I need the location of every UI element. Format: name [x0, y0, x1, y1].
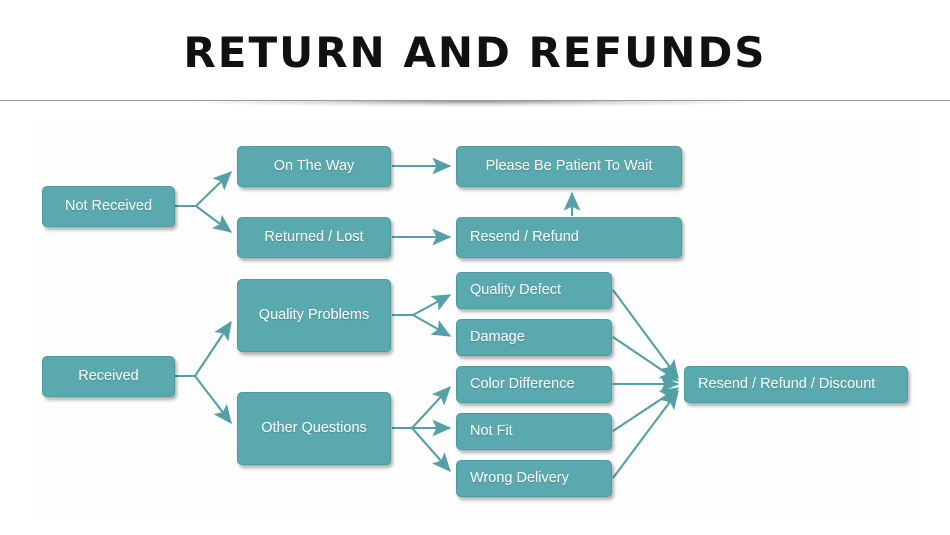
header-divider — [0, 100, 950, 101]
node-label: Not Fit — [470, 423, 513, 440]
page-header: RETURN AND REFUNDS — [0, 0, 950, 100]
node-label: Resend / Refund / Discount — [698, 376, 875, 393]
edge-quality-problems-to-quality-defect — [392, 295, 450, 315]
node-label: Other Questions — [261, 420, 367, 437]
node-label: On The Way — [274, 158, 355, 175]
edge-other-questions-to-color-difference — [392, 387, 450, 428]
edge-wrong-delivery-to-final — [613, 391, 678, 478]
edge-quality-defect-to-final — [613, 290, 678, 378]
node-label: Quality Problems — [259, 307, 369, 324]
edge-damage-to-final — [613, 337, 678, 381]
node-label: Returned / Lost — [264, 229, 363, 246]
node-resend-refund-discount[interactable]: Resend / Refund / Discount — [684, 366, 908, 403]
node-quality-defect[interactable]: Quality Defect — [456, 272, 612, 309]
node-not-fit[interactable]: Not Fit — [456, 413, 612, 450]
edge-not-received-to-returned-lost — [175, 206, 231, 232]
edge-received-to-other-questions — [175, 376, 231, 423]
node-not-received[interactable]: Not Received — [42, 186, 175, 227]
node-returned-lost[interactable]: Returned / Lost — [237, 217, 391, 258]
node-resend-refund[interactable]: Resend / Refund — [456, 217, 682, 258]
node-other-questions[interactable]: Other Questions — [237, 392, 391, 465]
node-label: Received — [78, 368, 138, 385]
node-received[interactable]: Received — [42, 356, 175, 397]
node-label: Wrong Delivery — [470, 470, 569, 487]
node-label: Not Received — [65, 198, 152, 215]
edge-not-received-to-on-the-way — [175, 172, 231, 206]
node-damage[interactable]: Damage — [456, 319, 612, 356]
node-label: Resend / Refund — [470, 229, 579, 246]
node-label: Quality Defect — [470, 282, 561, 299]
edge-received-to-quality-problems — [175, 322, 231, 376]
header-divider-shadow — [0, 101, 950, 110]
flowchart-diagram: Not Received On The Way Returned / Lost … — [0, 110, 950, 535]
edge-not-fit-to-final — [613, 388, 678, 431]
node-label: Damage — [470, 329, 525, 346]
edge-quality-problems-to-damage — [392, 315, 450, 336]
node-label: Color Difference — [470, 376, 575, 393]
node-label: Please Be Patient To Wait — [486, 158, 653, 175]
node-color-difference[interactable]: Color Difference — [456, 366, 612, 403]
node-wrong-delivery[interactable]: Wrong Delivery — [456, 460, 612, 497]
edge-other-questions-to-wrong-delivery — [392, 428, 450, 471]
node-quality-problems[interactable]: Quality Problems — [237, 279, 391, 352]
node-please-be-patient-to-wait[interactable]: Please Be Patient To Wait — [456, 146, 682, 187]
node-on-the-way[interactable]: On The Way — [237, 146, 391, 187]
page-title: RETURN AND REFUNDS — [0, 27, 950, 79]
